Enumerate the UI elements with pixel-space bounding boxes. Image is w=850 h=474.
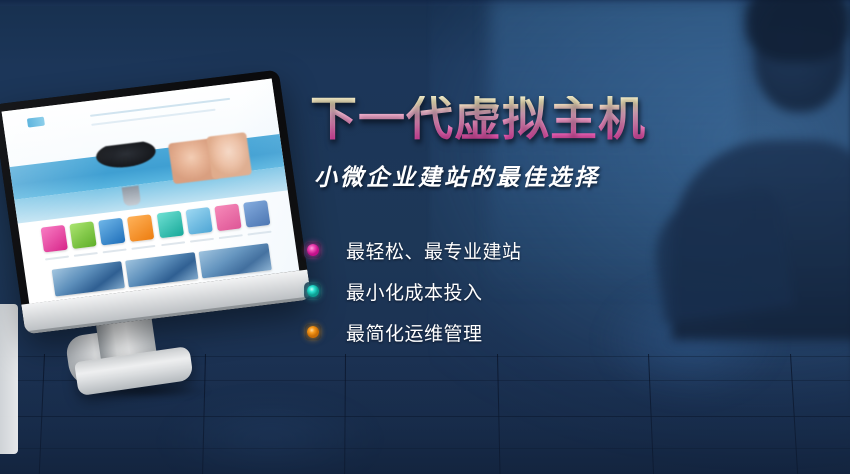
imac-screen [2, 79, 300, 304]
page-subtitle: 小微企业建站的最佳选择 [314, 158, 716, 192]
hosting-promo-banner: 下一代虚拟主机 小微企业建站的最佳选择 最轻松、最专业建站 最小化成本投入 最简… [0, 0, 850, 474]
icon-label [248, 231, 272, 236]
imac-body [0, 70, 312, 335]
website-thumbnail [52, 261, 125, 296]
icon-label [103, 249, 127, 254]
promo-text-block: 下一代虚拟主机 小微企业建站的最佳选择 最轻松、最专业建站 最小化成本投入 最简… [296, 96, 716, 355]
feature-label: 最小化成本投入 [346, 278, 483, 305]
icon-label [74, 252, 98, 257]
icon-label [161, 242, 185, 247]
icon-label [45, 256, 69, 261]
list-item: 最小化成本投入 [304, 273, 716, 310]
feature-label: 最简化运维管理 [346, 319, 483, 346]
website-thumbnail [199, 243, 272, 278]
icon-label [219, 235, 243, 240]
imac-monitor [8, 86, 308, 396]
bullet-orange-icon [304, 323, 322, 341]
bullet-teal-icon [304, 282, 322, 300]
app-icon-teal [156, 211, 183, 239]
icon-label [132, 245, 156, 250]
page-title: 下一代虚拟主机 [310, 96, 716, 144]
feature-label: 最轻松、最专业建站 [346, 237, 522, 264]
list-item: 最轻松、最专业建站 [304, 232, 716, 269]
app-icon-orange [127, 214, 154, 242]
website-thumbnail [125, 252, 198, 287]
website-hero-device [89, 139, 166, 194]
website-hero-device-stand [122, 186, 142, 206]
app-icon-rose [214, 204, 241, 232]
app-icon-blue [98, 218, 125, 246]
website-hero-person-b [206, 132, 253, 179]
app-icon-indigo [243, 200, 270, 228]
bullet-magenta-icon [304, 241, 322, 259]
imac-chin-edge [25, 296, 311, 334]
person-hair [746, 0, 850, 62]
app-icon-green [69, 222, 96, 250]
app-icon-pink [40, 225, 67, 253]
background-panel-left [0, 304, 18, 454]
list-item: 最简化运维管理 [304, 314, 716, 351]
feature-list: 最轻松、最专业建站 最小化成本投入 最简化运维管理 [304, 232, 716, 351]
icon-label [190, 238, 214, 243]
app-icon-lightblue [185, 207, 212, 235]
